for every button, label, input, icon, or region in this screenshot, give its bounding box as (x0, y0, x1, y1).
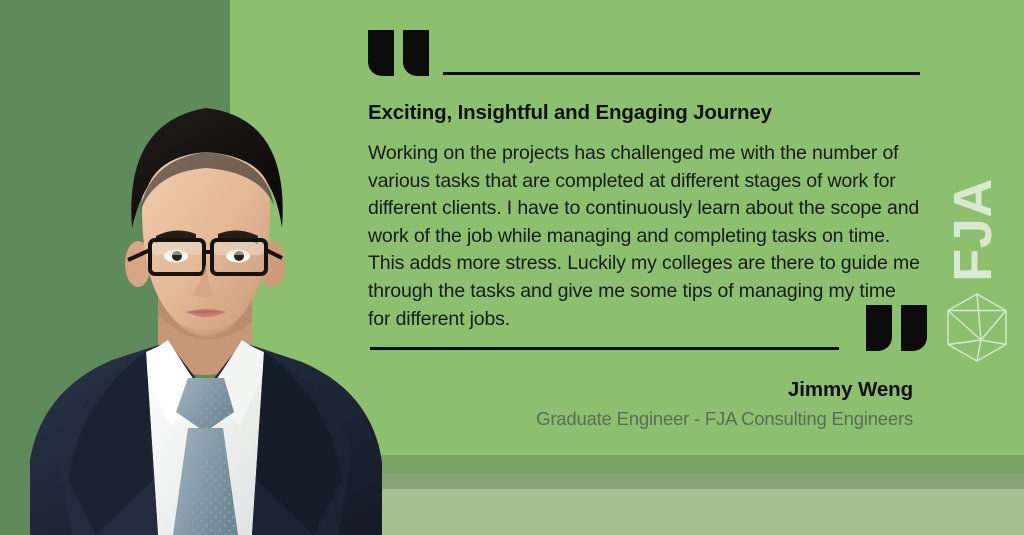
fja-wordmark: FJA (930, 170, 1016, 290)
attribution: Jimmy Weng Graduate Engineer - FJA Consu… (368, 378, 913, 430)
page-title: Exciting, Insightful and Engaging Journe… (368, 101, 928, 125)
divider-top (443, 72, 920, 75)
author-name: Jimmy Weng (368, 378, 913, 402)
quote-close-bar-1 (866, 305, 892, 351)
quote-open-bar-2 (403, 30, 429, 76)
fja-wordmark-text: FJA (942, 178, 1004, 282)
portrait-photo (20, 60, 390, 535)
testimonial-body: Working on the projects has challenged m… (368, 140, 920, 333)
quote-open-icon (368, 30, 429, 76)
quote-close-icon (866, 305, 927, 351)
testimonial-card: Exciting, Insightful and Engaging Journe… (0, 0, 1024, 535)
divider-bottom (370, 347, 839, 350)
quote-open-bar-1 (368, 30, 394, 76)
quote-close-bar-2 (901, 305, 927, 351)
author-role: Graduate Engineer - FJA Consulting Engin… (368, 408, 913, 430)
fja-hexagon-logo-icon (941, 291, 1013, 365)
